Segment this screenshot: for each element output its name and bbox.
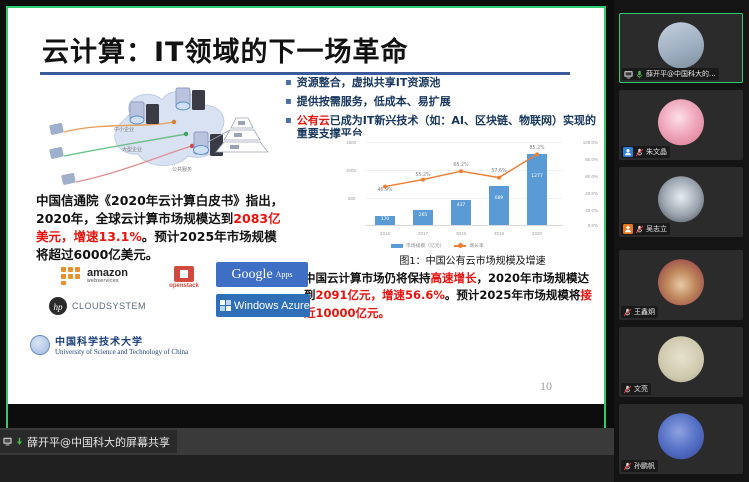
taskbar: 薛开平@中国科大的屏幕共享	[0, 428, 614, 455]
ustc-footer: 中国科学技术大学 University of Science and Techn…	[30, 333, 188, 356]
chart-ytick-right-40: 40.0%	[585, 191, 598, 196]
right-para-part1: 中国云计算市场仍将保持	[304, 271, 431, 285]
chart-ytick-right-80: 80.0%	[585, 157, 598, 162]
chart-xtick-2019: 2019	[486, 231, 512, 236]
bullet-highlight: 公有云	[297, 114, 330, 127]
ustc-name-cn: 中国科学技术大学	[55, 333, 188, 348]
legend-item-line: 增长率	[454, 242, 483, 249]
microphone-muted-icon	[623, 308, 632, 317]
avatar	[658, 413, 704, 459]
bullet-dot-icon: ▪	[285, 95, 292, 109]
aws-logo-line2: webservices	[87, 279, 128, 284]
openstack-logo: openstack	[158, 263, 210, 291]
legend-line-swatch	[454, 245, 466, 247]
chart-ytick-left-1000: 1000	[346, 168, 356, 173]
participant-tile-5[interactable]: 孙鹏帆	[619, 404, 743, 474]
left-paragraph: 中国信通院《2020年云计算白皮书》指出，2020年，全球云计算市场规模达到20…	[36, 192, 284, 265]
bullet-item-2: ▪ 提供按需服务，低成本、易扩展	[285, 95, 604, 109]
bullet-item-1: ▪ 资源整合，虚拟共享IT资源池	[285, 76, 604, 90]
taskbar-label: 薛开平@中国科大的屏幕共享	[27, 434, 170, 450]
user-badge-icon	[623, 224, 633, 234]
slide-page-number: 10	[540, 379, 552, 394]
participant-rail[interactable]: 薛开平@中国科大的... 朱文晶 吴志立 王鑫炯	[614, 0, 749, 482]
screen-share-icon	[3, 437, 12, 446]
windows-azure-text: Windows Azure	[234, 300, 310, 312]
right-para-red1: 高速增长	[431, 271, 477, 285]
figure-caption: 图1：中国公有云市场规模及增速	[345, 252, 600, 267]
right-paragraph: 中国云计算市场仍将保持高速增长，2020年市场规模达到2091亿元，增速56.6…	[304, 270, 596, 322]
legend-item-bar: 市场规模（亿元）	[391, 242, 444, 249]
legend-bar-label: 市场规模（亿元）	[406, 244, 444, 249]
participant-tile-0[interactable]: 薛开平@中国科大的...	[619, 13, 743, 83]
avatar	[658, 99, 704, 145]
diagram-label-2: 公共服务	[172, 166, 192, 173]
shared-screen-region: 云计算：IT领域的下一场革命	[0, 0, 614, 455]
legend-line-label: 增长率	[469, 244, 483, 249]
avatar	[658, 22, 704, 68]
hp-cloudsystem-text: CLOUDSYSTEM	[72, 301, 146, 311]
chart-xtick-2020: 2020	[524, 231, 550, 236]
bullet-text-1: 资源整合，虚拟共享IT资源池	[297, 76, 604, 90]
user-badge-icon	[623, 147, 633, 157]
participant-tile-4[interactable]: 文亮	[619, 327, 743, 397]
participant-tile-1[interactable]: 朱文晶	[619, 90, 743, 160]
participant-namebar-3: 王鑫炯	[621, 306, 658, 318]
participant-namebar-5: 孙鹏帆	[621, 460, 658, 472]
participant-name-5: 孙鹏帆	[634, 461, 655, 471]
vendor-logo-group: amazon webservices openstack GoogleApps …	[38, 263, 288, 325]
taskbar-share-button[interactable]: 薛开平@中国科大的屏幕共享	[0, 430, 177, 453]
right-para-part3: 。预计2025年市场规模将	[445, 288, 581, 302]
diagram-label-1: 大型企业	[122, 146, 142, 153]
ustc-name-en: University of Science and Technology of …	[55, 348, 188, 356]
chart-point-label-2016: 46.9%	[377, 188, 392, 193]
chart-point-label-2020: 85.2%	[529, 146, 544, 151]
chart-point-label-2018: 65.2%	[453, 163, 468, 168]
participant-tile-3[interactable]: 王鑫炯	[619, 250, 743, 320]
chart-legend: 市场规模（亿元） 增长率	[391, 242, 484, 249]
google-logo-text: Google	[231, 267, 272, 283]
aws-logo-line1: amazon	[87, 268, 128, 279]
diagram-label-0: 中小企业	[114, 126, 134, 133]
chart-plot-area: 1500 1000 500 170 265 437 689	[365, 142, 563, 226]
bullet-dot-icon: ▪	[285, 76, 292, 90]
chart-point-label-2017: 55.2%	[415, 173, 430, 178]
cloud-architecture-diagram: 中小企业 大型企业 公共服务	[34, 80, 284, 196]
chart-ytick-right-60: 60.0%	[585, 174, 598, 179]
market-size-chart: 1500 1000 500 170 265 437 689	[345, 136, 600, 251]
chart-ytick-left-1500: 1500	[346, 140, 356, 145]
microphone-muted-icon	[623, 385, 632, 394]
microphone-unmuted-icon	[635, 70, 644, 79]
presentation-slide: 云计算：IT领域的下一场革命	[8, 8, 604, 404]
participant-tile-2[interactable]: 吴志立	[619, 167, 743, 237]
participant-name-3: 王鑫炯	[634, 307, 655, 317]
svg-text:hp: hp	[54, 302, 64, 312]
chart-ytick-right-100: 100.0%	[583, 140, 598, 145]
chart-xtick-2017: 2017	[410, 231, 436, 236]
download-arrow-icon	[15, 437, 24, 446]
slide-title: 云计算：IT领域的下一场革命	[42, 30, 408, 69]
chart-ytick-right-0: 0.0%	[588, 223, 598, 228]
avatar	[658, 336, 704, 382]
chart-ytick-left-500: 500	[348, 196, 356, 201]
chart-xtick-2018: 2018	[448, 231, 474, 236]
microphone-muted-icon	[635, 225, 644, 234]
google-apps-logo: GoogleApps	[216, 262, 308, 287]
bullet-text-2: 提供按需服务，低成本、易扩展	[297, 95, 604, 109]
screen-share-icon	[624, 70, 633, 79]
hp-cloudsystem-logo: hp CLOUDSYSTEM	[48, 295, 168, 317]
participant-namebar-4: 文亮	[621, 383, 651, 395]
microphone-muted-icon	[635, 148, 644, 157]
microphone-muted-icon	[623, 462, 632, 471]
title-divider	[40, 72, 570, 75]
meeting-window: 云计算：IT领域的下一场革命	[0, 0, 749, 482]
openstack-logo-text: openstack	[169, 283, 199, 289]
participant-name-1: 朱文晶	[646, 147, 667, 157]
chart-growth-line	[365, 142, 563, 226]
legend-bar-swatch	[391, 244, 403, 248]
amazon-web-services-logo: amazon webservices	[46, 263, 142, 288]
bullet-dot-icon: ▪	[285, 114, 292, 128]
participant-name-2: 吴志立	[646, 224, 667, 234]
avatar	[658, 176, 704, 222]
participant-namebar-0: 薛开平@中国科大的...	[622, 68, 719, 80]
participant-namebar-2: 吴志立	[621, 223, 670, 235]
chart-xtick-2016: 2016	[372, 231, 398, 236]
right-para-red2: 2091亿元，增速56.6%	[316, 288, 445, 302]
ustc-seal-icon	[30, 335, 50, 355]
participant-namebar-1: 朱文晶	[621, 146, 670, 158]
participant-name-4: 文亮	[634, 384, 648, 394]
chart-point-label-2019: 57.6%	[491, 169, 506, 174]
participant-name-0: 薛开平@中国科大的...	[646, 69, 716, 79]
avatar	[658, 259, 704, 305]
chart-ytick-right-20: 20.0%	[585, 208, 598, 213]
windows-azure-logo: Windows Azure	[216, 294, 310, 317]
google-apps-sub: Apps	[276, 270, 293, 279]
